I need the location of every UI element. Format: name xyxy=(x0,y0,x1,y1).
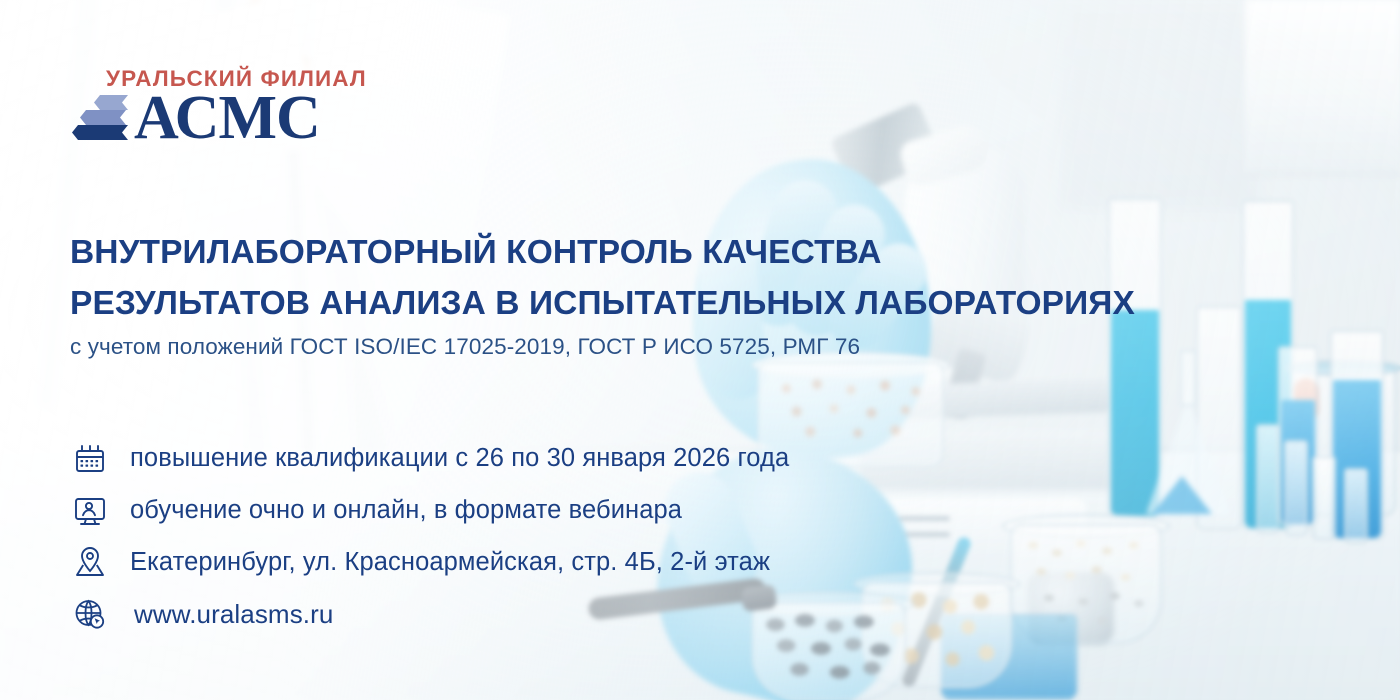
detail-row-address: Екатеринбург, ул. Красноармейская, стр. … xyxy=(68,536,1028,588)
headline-line-1: ВНУТРИЛАБОРАТОРНЫЙ КОНТРОЛЬ КАЧЕСТВА xyxy=(70,228,1160,279)
headline-line-2: РЕЗУЛЬТАТОВ АНАЛИЗА В ИСПЫТАТЕЛЬНЫХ ЛАБО… xyxy=(70,279,1160,330)
webinar-monitor-icon xyxy=(68,488,112,532)
detail-text-dates: повышение квалификации с 26 по 30 января… xyxy=(130,444,789,473)
detail-row-format: обучение очно и онлайн, в формате вебина… xyxy=(68,484,1028,536)
page-title: ВНУТРИЛАБОРАТОРНЫЙ КОНТРОЛЬ КАЧЕСТВА РЕЗ… xyxy=(70,228,1160,330)
map-pin-icon xyxy=(68,540,112,584)
logo-main-row: АСМС xyxy=(70,93,370,144)
event-details-list: повышение квалификации с 26 по 30 января… xyxy=(68,432,1028,640)
logo-wordmark: АСМС xyxy=(134,93,320,144)
stacked-books-icon xyxy=(70,93,132,141)
detail-text-format: обучение очно и онлайн, в формате вебина… xyxy=(130,496,682,525)
asms-logo[interactable]: УРАЛЬСКИЙ ФИЛИАЛ АСМС xyxy=(70,68,370,160)
detail-text-address: Екатеринбург, ул. Красноармейская, стр. … xyxy=(130,548,770,577)
page-subtitle: с учетом положений ГОСТ ISO/IEC 17025-20… xyxy=(70,334,860,360)
detail-row-dates: повышение квалификации с 26 по 30 января… xyxy=(68,432,1028,484)
calendar-icon xyxy=(68,436,112,480)
globe-cursor-icon xyxy=(68,592,112,636)
detail-row-website[interactable]: www.uralasms.ru xyxy=(68,588,1028,640)
promo-banner: УРАЛЬСКИЙ ФИЛИАЛ АСМС ВНУТРИЛАБОРАТОРНЫЙ… xyxy=(0,0,1400,700)
detail-text-website[interactable]: www.uralasms.ru xyxy=(134,599,333,630)
banner-content: УРАЛЬСКИЙ ФИЛИАЛ АСМС ВНУТРИЛАБОРАТОРНЫЙ… xyxy=(0,0,1400,700)
